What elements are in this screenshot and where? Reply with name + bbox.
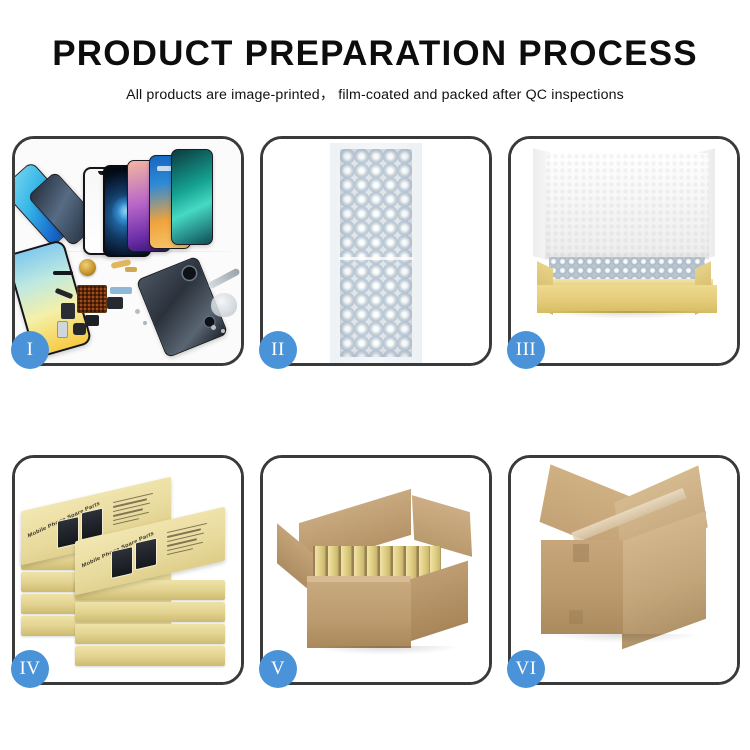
step-image-5 <box>263 458 489 682</box>
box-spec-list <box>167 521 213 562</box>
carton-front-panel <box>307 582 411 648</box>
step-panel-1: I <box>12 136 244 366</box>
camera-lens-icon <box>181 265 198 282</box>
kraft-box-body <box>75 624 225 644</box>
part-chip-2 <box>85 315 99 326</box>
step-panel-3: III <box>508 136 740 366</box>
tool-hand <box>211 293 237 317</box>
step-panel-4: Mobile Phone Spare Parts Mobile Phone Sp… <box>12 455 244 685</box>
carton-shadow <box>551 634 701 643</box>
part-speaker <box>53 271 73 275</box>
part-sim-tray <box>57 321 68 338</box>
part-connector-strip <box>110 287 132 294</box>
step-image-3 <box>511 139 737 363</box>
step-image-6 <box>511 458 737 682</box>
step-image-4: Mobile Phone Spare Parts Mobile Phone Sp… <box>15 458 241 682</box>
carton-tab-lower <box>569 610 583 624</box>
part-vibration-motor <box>79 259 96 276</box>
bubble-wrap-seam <box>339 257 413 260</box>
sealed-carton-illustration <box>511 458 737 682</box>
open-carton-illustration <box>263 458 489 682</box>
bubble-wrap-illustration <box>263 139 489 363</box>
box-print-screen-2 <box>135 537 157 570</box>
part-button-module <box>73 323 86 335</box>
step-panel-5: V <box>260 455 492 685</box>
part-ribbon-cable-2 <box>61 303 75 319</box>
part-screw-4 <box>221 329 225 333</box>
part-flex-cable-2 <box>125 267 137 272</box>
step-badge-6: VI <box>507 650 545 688</box>
page-title: PRODUCT PREPARATION PROCESS <box>0 36 750 73</box>
step-badge-2: II <box>259 331 297 369</box>
box-stack: Mobile Phone Spare Parts Mobile Phone Sp… <box>17 472 241 672</box>
carton-shadow <box>311 646 461 655</box>
step-panel-6: VI <box>508 455 740 685</box>
kraft-box-body <box>75 646 225 666</box>
step-badge-4: IV <box>11 650 49 688</box>
stacked-kraft-boxes-illustration: Mobile Phone Spare Parts Mobile Phone Sp… <box>15 458 241 682</box>
page-subtitle: All products are image-printed， film-coa… <box>0 84 750 104</box>
step-badge-1: I <box>11 331 49 369</box>
phone-teal-screen <box>171 149 213 245</box>
header: PRODUCT PREPARATION PROCESS All products… <box>0 36 750 104</box>
part-screw-mat <box>77 285 107 313</box>
tool-tweezers <box>207 267 240 289</box>
step-image-2 <box>263 139 489 363</box>
bubble-wrap-bubbles <box>340 149 412 357</box>
foam-lining <box>545 153 709 259</box>
part-screw-3 <box>211 325 216 330</box>
part-screw-1 <box>135 309 140 314</box>
part-screw-2 <box>143 321 147 325</box>
step-badge-5: V <box>259 650 297 688</box>
kraft-box-body <box>75 602 225 622</box>
box-front-panel <box>537 285 717 313</box>
box-print-screen-1 <box>111 546 133 579</box>
step-badge-3: III <box>507 331 545 369</box>
process-steps-grid: I II <box>12 136 740 685</box>
phones-and-spare-parts-illustration <box>15 139 241 363</box>
open-yellow-box-illustration <box>511 139 737 363</box>
box-shadow <box>545 311 709 319</box>
step-image-1 <box>15 139 241 363</box>
part-chip-1 <box>107 297 123 309</box>
page-root: PRODUCT PREPARATION PROCESS All products… <box>0 0 750 750</box>
step-panel-2: II <box>260 136 492 366</box>
carton-tab-upper <box>573 544 589 562</box>
